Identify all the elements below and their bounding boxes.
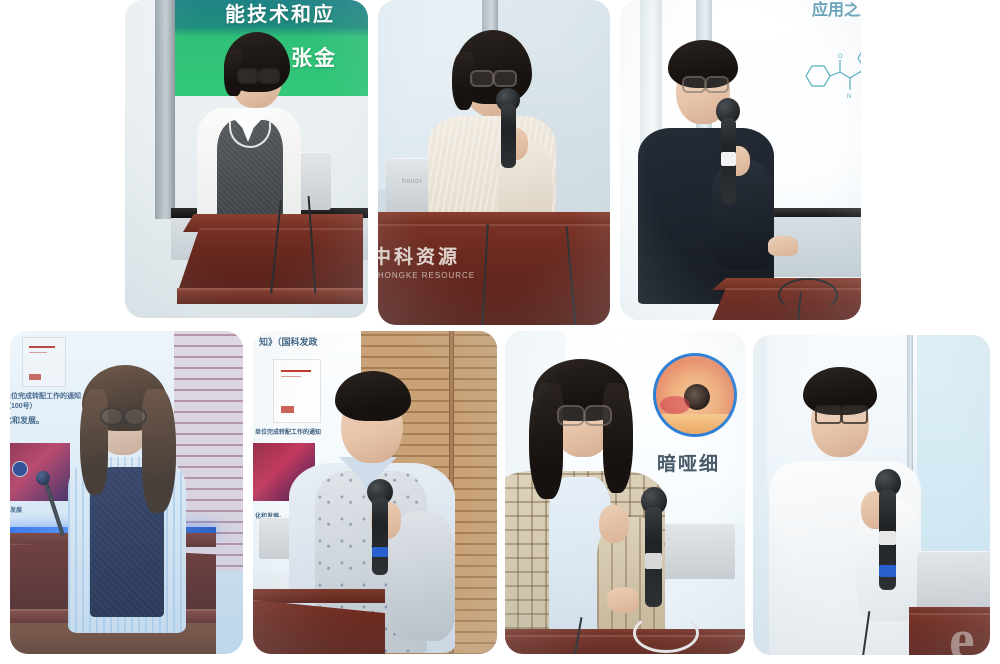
photo-7-glasses-right — [841, 405, 868, 424]
photo-5-mic-body — [372, 497, 388, 575]
photo-tile-7[interactable]: e — [753, 335, 990, 655]
photo-4-slide-text-line3: 化和发展。 — [10, 415, 44, 426]
photo-6-mic-label — [645, 553, 662, 569]
photo-3-cable-loop — [778, 278, 838, 312]
photo-7-glasses — [815, 405, 842, 424]
photo-3-glasses — [682, 76, 706, 93]
photo-4-slide-text-line2: （100号） — [10, 401, 37, 411]
photo-6-cable-white — [633, 613, 699, 653]
photo-7-mic-band — [879, 531, 896, 545]
photo-6-laptop — [657, 523, 735, 579]
photo-5-doc-seal — [281, 406, 294, 413]
photo-7-wall-right — [917, 335, 990, 559]
photo-6-glasses — [557, 405, 585, 426]
photo-4-doc-line2 — [29, 352, 47, 353]
photo-6-glasses-right — [584, 405, 612, 426]
photo-4-doc-seal — [29, 374, 41, 380]
photo-collage: 能技术和应 人：张金 — [0, 0, 1000, 664]
photo-6-slide-text: 暗哑细 — [657, 449, 720, 476]
photo-1-glasses-right — [258, 68, 280, 84]
photo-1-glasses — [237, 68, 259, 84]
photo-7-laptop — [917, 551, 990, 613]
photo-5-mic-indicator — [372, 547, 388, 557]
photo-tile-6[interactable]: 暗哑细 — [505, 331, 745, 654]
photo-5-podium-top — [253, 589, 385, 603]
photo-4-doc-redline — [29, 346, 55, 348]
photo-5-doc-redline — [281, 370, 311, 372]
photo-3-chemistry-diagram: O O N — [798, 48, 861, 108]
photo-2-mic-body — [501, 104, 516, 168]
photo-6-hand-lower — [607, 587, 639, 613]
photo-tile-4[interactable]: 单位完成转配工作的通知 （100号） 化和发展。 了发展 — [10, 331, 243, 654]
photo-6-hair-long-left — [529, 383, 563, 499]
photo-5-doc-line2 — [281, 376, 301, 377]
photo-4-glasses — [100, 407, 124, 426]
photo-5-slide-text-line1: 单位完成转配工作的通知 — [255, 427, 321, 436]
photo-4-hair-long-right — [142, 389, 176, 513]
svg-text:O: O — [838, 54, 843, 60]
photo-5-slide-text-top: 知》（国科发政 — [259, 335, 318, 348]
svg-text:N: N — [847, 94, 851, 100]
photo-tile-3[interactable]: 应用之路 药 O O N — [620, 0, 861, 320]
photo-2-podium-brand-en: ZHONGKE RESOURCE — [378, 271, 475, 280]
photo-6-hand — [599, 505, 629, 543]
photo-6-eye-illustration — [653, 353, 737, 437]
photo-2-glasses-right — [493, 70, 517, 87]
photo-1-screen-frame — [155, 0, 175, 219]
photo-4-slide-text-line1: 单位完成转配工作的通知 — [10, 391, 81, 401]
photo-3-hand-right — [768, 236, 798, 256]
photo-4-hair-long-left — [80, 389, 108, 495]
photo-4-slide-document — [22, 337, 66, 387]
photo-tile-1[interactable]: 能技术和应 人：张金 — [125, 0, 368, 318]
photo-3-glasses-right — [705, 76, 729, 93]
photo-7-podium-logo: e — [949, 611, 975, 655]
photo-tile-5[interactable]: 知》（国科发政 单位完成转配工作的通知 化和发展。 — [253, 331, 497, 654]
photo-1-slide-text-line1: 能技术和应 — [225, 0, 335, 27]
photo-6-eye-redness — [660, 396, 690, 414]
photo-6-hair-long-right — [603, 383, 633, 493]
photo-7-mic-indicator — [879, 565, 896, 577]
photo-1-glasses-bridge — [254, 73, 259, 75]
photo-6-podium — [505, 635, 745, 654]
photo-2-glasses — [470, 70, 494, 87]
photo-4-glasses-right — [123, 407, 147, 426]
photo-tile-2[interactable]: honor 中科资源 — [378, 0, 610, 325]
photo-3-mic-band — [721, 152, 736, 166]
photo-3-slide-text-top: 应用之路 — [812, 0, 861, 20]
photo-5-slide-document — [273, 359, 321, 423]
photo-6-eye-lower-lid — [656, 414, 734, 436]
photo-4-mic-head — [36, 471, 50, 485]
photo-4-slide-photo-emblem — [12, 461, 28, 477]
photo-2-podium-brand: 中科资源 ZHONGKE RESOURCE — [378, 242, 475, 280]
photo-2-podium-brand-cn: 中科资源 — [378, 247, 460, 268]
photo-4-slide-caption: 了发展 — [10, 505, 22, 514]
photo-2-laptop-brand: honor — [402, 178, 422, 185]
